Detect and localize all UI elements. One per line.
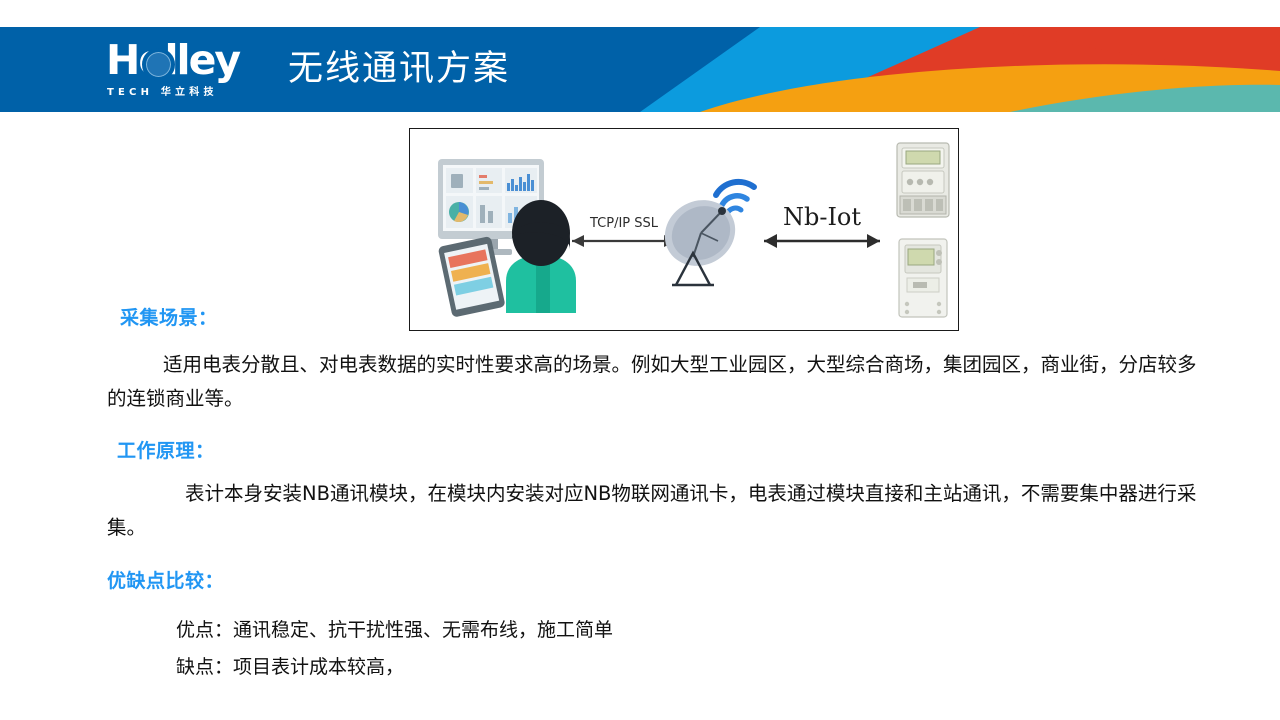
nbiot-link: Nb-Iot [764,203,880,248]
satellite-dish-illustration [653,182,754,285]
workstation-user-illustration [438,159,576,318]
page-header: Holley TECH 华立科技 无线通讯方案 [0,27,1280,112]
logo-ring-icon [142,48,175,81]
tcpip-label: TCP/IP SSL [589,216,659,231]
nbiot-label: Nb-Iot [783,203,861,231]
section-heading-scene: 采集场景： [120,303,218,330]
electric-meter-bottom-illustration [899,239,947,317]
topology-svg: TCP/IP SSL Nb-Iot [410,129,958,329]
comparison-cons: 缺点：项目表计成本较高， [176,652,404,679]
network-topology-diagram: TCP/IP SSL Nb-Iot [409,128,959,331]
page-title: 无线通讯方案 [288,40,510,91]
electric-meter-top-illustration [897,143,949,217]
logo-subtitle: TECH 华立科技 [107,83,218,98]
section-heading-principle: 工作原理： [117,436,215,463]
comparison-pros: 优点：通讯稳定、抗干扰性强、无需布线，施工简单 [176,615,613,642]
tcpip-link: TCP/IP SSL [572,216,676,247]
holley-logo: Holley TECH 华立科技 [106,38,262,100]
section-body-principle: 表计本身安装NB通讯模块，在模块内安装对应NB物联网通讯卡，电表通过模块直接和主… [107,477,1217,545]
section-heading-comparison: 优缺点比较： [107,566,224,593]
section-body-scene: 适用电表分散且、对电表数据的实时性要求高的场景。例如大型工业园区，大型综合商场，… [107,348,1207,416]
